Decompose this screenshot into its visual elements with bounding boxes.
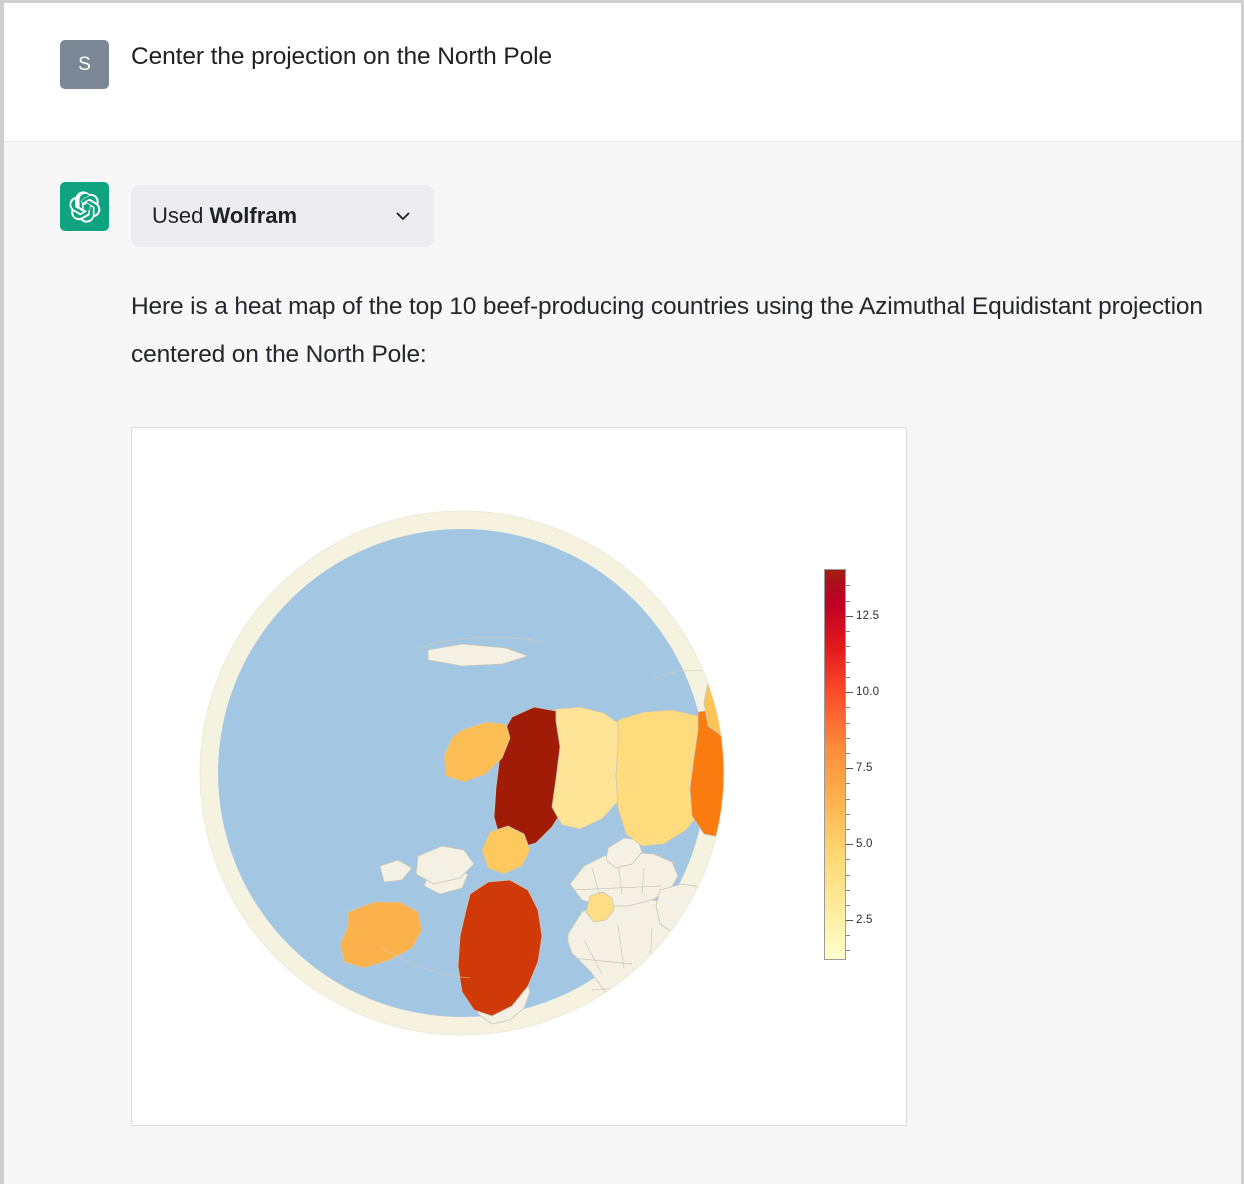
colorbar-tick-minor	[846, 677, 850, 678]
colorbar: 12.5 10.0 7.5 5.0 2.5	[824, 569, 904, 964]
tool-pill-label: Used Wolfram	[152, 203, 297, 229]
colorbar-tick-label: 12.5	[856, 610, 879, 622]
colorbar-tick-minor	[846, 814, 850, 815]
colorbar-tick-minor	[846, 738, 850, 739]
assistant-avatar-column	[4, 182, 131, 231]
colorbar-tick-minor	[846, 662, 850, 663]
colorbar-tick-minor	[846, 723, 850, 724]
colorbar-tick-minor	[846, 950, 850, 951]
colorbar-tick-minor	[846, 875, 850, 876]
colorbar-tick-minor	[846, 585, 850, 586]
colorbar-tick-minor	[846, 859, 850, 860]
colorbar-tick-major	[846, 920, 853, 921]
colorbar-tick-minor	[846, 601, 850, 602]
assistant-message-text: Here is a heat map of the top 10 beef-pr…	[131, 283, 1209, 379]
assistant-message-row: Used Wolfram Here is a heat map of the t…	[4, 142, 1241, 1184]
colorbar-tick-label: 2.5	[856, 914, 873, 926]
tool-pill-prefix: Used	[152, 203, 209, 228]
colorbar-tick-minor	[846, 890, 850, 891]
colorbar-tick-minor	[846, 935, 850, 936]
avatar: S	[60, 40, 109, 89]
colorbar-tick-label: 7.5	[856, 762, 873, 774]
user-message-text: Center the projection on the North Pole	[131, 40, 1209, 73]
user-message-content: Center the projection on the North Pole	[131, 40, 1241, 73]
colorbar-tick-label: 5.0	[856, 838, 873, 850]
colorbar-tick-major	[846, 692, 853, 693]
colorbar-tick-minor	[846, 631, 850, 632]
chat-page: S Center the projection on the North Pol…	[0, 0, 1244, 1184]
colorbar-tick-minor	[846, 646, 850, 647]
assistant-message-content: Used Wolfram Here is a heat map of the t…	[131, 182, 1241, 1126]
colorbar-tick-label: 10.0	[856, 686, 879, 698]
colorbar-tick-minor	[846, 783, 850, 784]
user-message-row: S Center the projection on the North Pol…	[4, 3, 1241, 142]
avatar	[60, 182, 109, 231]
colorbar-gradient	[824, 569, 846, 960]
user-avatar-column: S	[4, 40, 131, 89]
chevron-down-icon[interactable]	[393, 206, 413, 226]
used-wolfram-tool-button[interactable]: Used Wolfram	[131, 185, 434, 247]
colorbar-tick-minor	[846, 799, 850, 800]
openai-logo-icon	[69, 191, 101, 223]
colorbar-tick-major	[846, 768, 853, 769]
colorbar-tick-major	[846, 616, 853, 617]
azimuthal-equidistant-map	[132, 428, 906, 1125]
colorbar-tick-major	[846, 844, 853, 845]
map-figure-card: 12.5 10.0 7.5 5.0 2.5	[131, 427, 907, 1126]
tool-pill-tool-name: Wolfram	[209, 203, 297, 228]
colorbar-tick-minor	[846, 753, 850, 754]
colorbar-tick-minor	[846, 905, 850, 906]
colorbar-tick-minor	[846, 829, 850, 830]
colorbar-tick-minor	[846, 707, 850, 708]
